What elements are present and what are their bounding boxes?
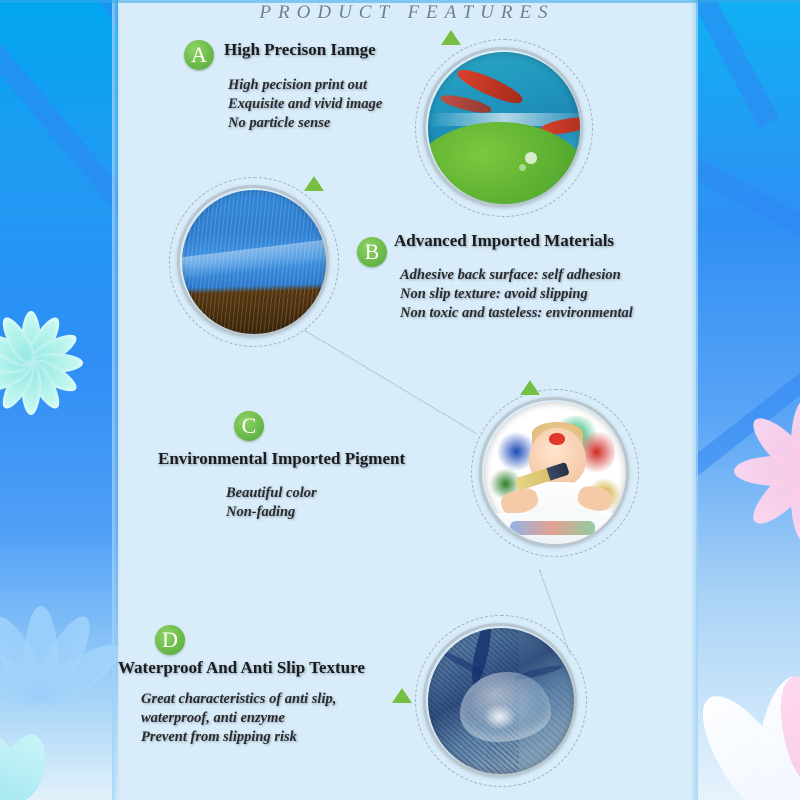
- panel-right-edge: [690, 0, 698, 800]
- bullet-line: Non-fading: [226, 503, 317, 522]
- content-panel: [118, 0, 696, 800]
- photo-baby-paint: [484, 402, 626, 544]
- bullet-line: No particle sense: [228, 114, 382, 133]
- feature-heading-d: Waterproof And Anti Slip Texture: [118, 658, 365, 678]
- feature-heading-b: Advanced Imported Materials: [394, 231, 614, 251]
- arrow-indicator-a: [441, 30, 461, 45]
- bullet-line: High pecision print out: [228, 76, 382, 95]
- feature-badge-d: D: [155, 625, 185, 655]
- flower-motif-cyan: [30, 362, 31, 363]
- arrow-indicator-b: [304, 176, 324, 191]
- bullet-line: Beautiful color: [226, 484, 317, 503]
- feature-bullets-c: Beautiful color Non-fading: [226, 484, 317, 522]
- feature-heading-c: Environmental Imported Pigment: [158, 449, 405, 469]
- page-title: PRODUCT FEATURES: [118, 2, 696, 24]
- photo-koi-print: [428, 52, 580, 204]
- arrow-indicator-c: [520, 380, 540, 395]
- feature-bullets-a: High pecision print out Exquisite and vi…: [228, 76, 382, 133]
- bullet-line: Non toxic and tasteless: environmental: [400, 304, 633, 323]
- flower-motif-faded: [40, 700, 41, 701]
- bullet-line: Prevent from slipping risk: [141, 728, 336, 747]
- arrow-indicator-d: [392, 688, 412, 703]
- left-decorative-border: [0, 0, 122, 800]
- feature-badge-b: B: [357, 237, 387, 267]
- feature-bullets-b: Adhesive back surface: self adhesion Non…: [400, 266, 633, 323]
- infographic-canvas: PRODUCT FEATURES A High Precison Iamge H…: [0, 0, 800, 800]
- bullet-line: Exquisite and vivid image: [228, 95, 382, 114]
- feature-badge-c: C: [234, 411, 264, 441]
- panel-left-edge: [112, 0, 120, 800]
- feature-heading-a: High Precison Iamge: [224, 40, 376, 60]
- feature-badge-a: A: [184, 40, 214, 70]
- bullet-line: waterproof, anti enzyme: [141, 709, 336, 728]
- photo-blue-fabric: [182, 190, 326, 334]
- photo-water-droplet: [428, 628, 574, 774]
- bullet-line: Adhesive back surface: self adhesion: [400, 266, 633, 285]
- feature-bullets-d: Great characteristics of anti slip, wate…: [141, 690, 336, 747]
- bullet-line: Non slip texture: avoid slipping: [400, 285, 633, 304]
- bullet-line: Great characteristics of anti slip,: [141, 690, 336, 709]
